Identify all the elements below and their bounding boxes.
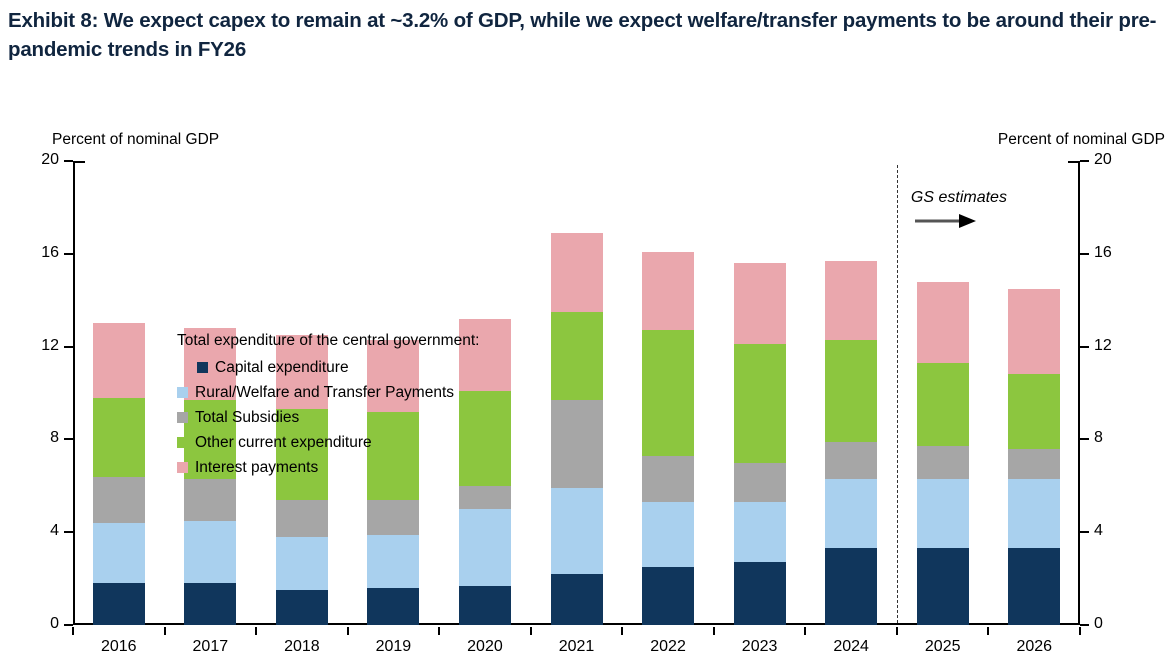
y-tick-r-4 (1080, 531, 1089, 533)
y-label-l-0: 0 (50, 615, 59, 633)
y-tick-r-8 (1080, 438, 1089, 440)
bar-column-2026[interactable] (988, 161, 1080, 625)
x-tick-1 (164, 627, 166, 635)
x-tick-7 (713, 627, 715, 635)
legend-swatch-capital-expenditure (197, 362, 208, 373)
x-tick-11 (1079, 627, 1081, 635)
y-label-r-12: 12 (1094, 337, 1112, 355)
bar-segment (734, 463, 786, 502)
bar-column-2021[interactable] (531, 161, 623, 625)
bar-segment (367, 535, 419, 588)
y-tick-l-12 (64, 346, 73, 348)
legend-swatch-total-subsidies (177, 412, 188, 423)
bar-segment (734, 562, 786, 625)
bar-segment (917, 282, 969, 363)
y-tick-l-0 (64, 624, 73, 626)
bar-segment (642, 456, 694, 502)
legend-label-rural-welfare-transfer-payments: Rural/Welfare and Transfer Payments (195, 384, 454, 402)
bar-segment (551, 488, 603, 574)
bar-segment (551, 400, 603, 488)
bar-segment (1008, 479, 1060, 549)
y-label-r-4: 4 (1094, 522, 1103, 540)
legend-swatch-other-current-expenditure (177, 437, 188, 448)
legend-item-rural-welfare-transfer-payments[interactable]: Rural/Welfare and Transfer Payments (177, 380, 479, 405)
legend-item-capital-expenditure[interactable]: Capital expenditure (177, 355, 479, 380)
bar-segment (825, 479, 877, 549)
bar-segment (93, 398, 145, 477)
bar-segment (93, 583, 145, 625)
forecast-divider-line (897, 165, 898, 623)
x-label-2024: 2024 (805, 627, 897, 661)
bar-column-2022[interactable] (622, 161, 714, 625)
legend-item-interest-payments[interactable]: Interest payments (177, 455, 479, 480)
legend-item-total-subsidies[interactable]: Total Subsidies (177, 405, 479, 430)
bar-segment (276, 537, 328, 590)
x-tick-3 (347, 627, 349, 635)
bar-stack-2021 (551, 233, 603, 625)
legend-title: Total expenditure of the central governm… (177, 332, 479, 350)
bar-stack-2024 (825, 261, 877, 625)
x-axis-labels: 2016201720182019202020212022202320242025… (73, 627, 1080, 661)
bar-column-2016[interactable] (73, 161, 165, 625)
bar-segment (642, 502, 694, 567)
legend-label-other-current-expenditure: Other current expenditure (195, 434, 372, 452)
y-label-r-16: 16 (1094, 244, 1112, 262)
x-label-2016: 2016 (73, 627, 165, 661)
y-label-l-4: 4 (50, 522, 59, 540)
legend-label-capital-expenditure: Capital expenditure (215, 359, 349, 377)
gs-estimates-label: GS estimates (911, 189, 1007, 207)
x-label-2019: 2019 (348, 627, 440, 661)
bar-segment (459, 586, 511, 625)
bar-segment (184, 479, 236, 521)
bar-segment (367, 588, 419, 625)
x-label-2025: 2025 (897, 627, 989, 661)
x-tick-4 (438, 627, 440, 635)
y-label-l-12: 12 (41, 337, 59, 355)
bar-segment (825, 548, 877, 625)
bar-stack-2026 (1008, 289, 1060, 625)
bar-segment (825, 340, 877, 442)
y-tick-r-20 (1080, 160, 1089, 162)
x-tick-8 (804, 627, 806, 635)
bar-segment (825, 261, 877, 340)
bar-column-2024[interactable] (805, 161, 897, 625)
y-tick-r-0 (1080, 624, 1089, 626)
y-label-r-0: 0 (1094, 615, 1103, 633)
x-label-2020: 2020 (439, 627, 531, 661)
bar-segment (276, 500, 328, 537)
y-label-l-16: 16 (41, 244, 59, 262)
y-tick-l-4 (64, 531, 73, 533)
y-tick-l-16 (64, 253, 73, 255)
x-label-2017: 2017 (165, 627, 257, 661)
left-axis-caption: Percent of nominal GDP (52, 131, 219, 149)
bar-stack-2022 (642, 252, 694, 625)
legend-label-interest-payments: Interest payments (195, 459, 318, 477)
legend-item-other-current-expenditure[interactable]: Other current expenditure (177, 430, 479, 455)
bar-segment (1008, 449, 1060, 479)
bar-segment (184, 583, 236, 625)
bar-segment (917, 479, 969, 549)
x-tick-6 (621, 627, 623, 635)
bar-segment (551, 574, 603, 625)
x-label-2018: 2018 (256, 627, 348, 661)
x-tick-5 (530, 627, 532, 635)
y-label-r-20: 20 (1094, 151, 1112, 169)
bar-segment (459, 486, 511, 509)
y-label-l-20: 20 (41, 151, 59, 169)
x-tick-10 (987, 627, 989, 635)
bar-segment (1008, 548, 1060, 625)
x-tick-0 (72, 627, 74, 635)
x-label-2021: 2021 (531, 627, 623, 661)
bar-segment (93, 523, 145, 583)
page-title: Exhibit 8: We expect capex to remain at … (8, 6, 1163, 64)
bar-segment (917, 548, 969, 625)
legend-swatch-rural-welfare-transfer-payments (177, 387, 188, 398)
bar-segment (1008, 374, 1060, 448)
bar-segment (459, 509, 511, 586)
bar-segment (642, 567, 694, 625)
right-arrow-icon (915, 213, 977, 234)
x-tick-2 (255, 627, 257, 635)
y-label-r-8: 8 (1094, 429, 1103, 447)
bar-segment (734, 263, 786, 344)
right-axis-caption: Percent of nominal GDP (998, 131, 1165, 149)
bar-column-2023[interactable] (714, 161, 806, 625)
bar-segment (184, 521, 236, 584)
bar-segment (825, 442, 877, 479)
bar-segment (276, 590, 328, 625)
bar-segment (917, 446, 969, 478)
x-label-2022: 2022 (622, 627, 714, 661)
bar-segment (367, 500, 419, 535)
bar-stack-2016 (93, 323, 145, 625)
bar-segment (917, 363, 969, 447)
bar-segment (93, 323, 145, 397)
bar-segment (734, 502, 786, 562)
x-tick-9 (896, 627, 898, 635)
bar-stack-2025 (917, 282, 969, 625)
bar-segment (93, 477, 145, 523)
y-tick-l-8 (64, 438, 73, 440)
bar-segment (551, 233, 603, 312)
bar-segment (1008, 289, 1060, 375)
x-label-2023: 2023 (714, 627, 806, 661)
bar-segment (642, 252, 694, 331)
y-tick-l-20 (64, 160, 73, 162)
y-label-l-8: 8 (50, 429, 59, 447)
bar-segment (551, 312, 603, 400)
legend-swatch-interest-payments (177, 462, 188, 473)
bar-stack-2023 (734, 263, 786, 625)
chart-plot-area: 004488121216162020 GS estimates Total ex… (73, 161, 1080, 625)
x-label-2026: 2026 (988, 627, 1080, 661)
legend-label-total-subsidies: Total Subsidies (195, 409, 299, 427)
y-tick-r-16 (1080, 253, 1089, 255)
chart-legend: Total expenditure of the central governm… (177, 332, 479, 480)
bar-segment (734, 344, 786, 462)
bar-segment (642, 330, 694, 455)
y-tick-r-12 (1080, 346, 1089, 348)
